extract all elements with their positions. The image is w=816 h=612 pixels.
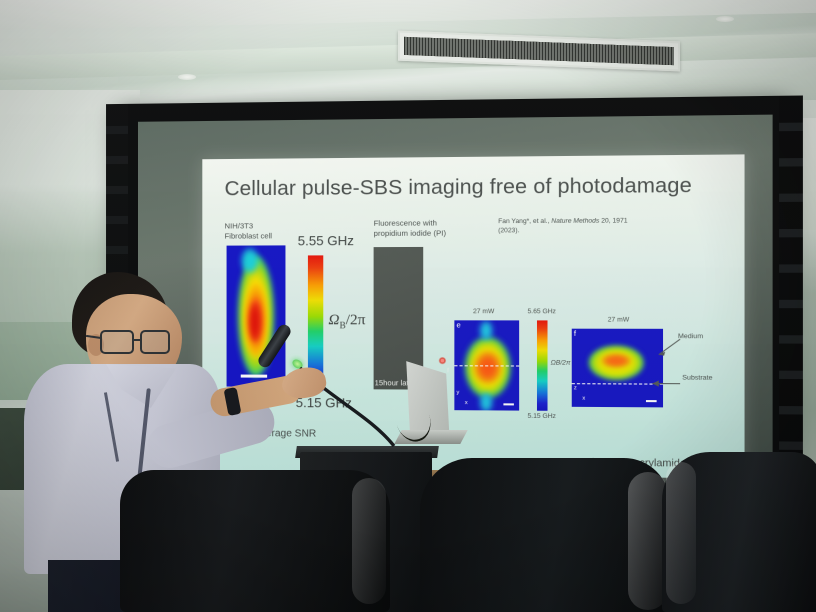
eyeglass-bridge [134, 339, 142, 341]
ceiling-light-icon [716, 16, 734, 22]
office-chair-right-1 [420, 458, 670, 612]
right-colorbar [537, 320, 548, 410]
chair-highlight [352, 478, 386, 604]
fluorescence-caption-line2: propidium iodide (PI) [374, 228, 447, 239]
office-chair-foreground [120, 470, 390, 612]
eyeglass-lens-left [100, 330, 134, 354]
panel-e-axis-x: x [465, 400, 468, 406]
panel-f-image: f z x [572, 329, 663, 408]
panel-f-power-label: 27 mW [608, 316, 629, 325]
left-panel-caption-line1: NIH/3T3 [225, 221, 254, 232]
scale-bar [241, 375, 267, 378]
panel-f-letter: f [574, 329, 576, 338]
annotation-medium: Medium [678, 333, 703, 340]
panel-e-dash-label: f [447, 367, 449, 376]
vent-louvers [404, 37, 674, 65]
ceiling-beam-upper [0, 0, 816, 30]
panel-e-image: e y x [454, 320, 519, 410]
citation-journal: Nature Methods [551, 217, 599, 224]
presentation-photo-scene: Cellular pulse-SBS imaging free of photo… [0, 0, 816, 612]
citation-line2: (2023). [498, 227, 519, 236]
laser-pointer-dot-icon [439, 357, 446, 364]
citation-prefix: Fan Yang*, et al., [498, 218, 551, 225]
panel-e-power-label: 27 mW [473, 308, 494, 317]
left-panel-caption-line2: Fibroblast cell [225, 231, 273, 242]
eyeglasses-icon [100, 330, 192, 356]
curtain-edge-right [779, 95, 803, 512]
annotation-substrate: Substrate [682, 374, 712, 381]
slide-title: Cellular pulse-SBS imaging free of photo… [225, 174, 692, 202]
right-colorbar-min-label: 5.15 GHz [528, 413, 556, 422]
substrate-arrow-icon [648, 378, 682, 389]
panel-f-scale-bar [646, 400, 657, 402]
panel-f-axis-z: z [574, 385, 577, 391]
citation-line1: Fan Yang*, et al., Nature Methods 20, 19… [498, 217, 627, 226]
office-chair-right-2 [662, 452, 816, 612]
ceiling-light-icon [178, 74, 196, 80]
left-colorbar-max-label: 5.55 GHz [298, 233, 354, 248]
right-colorbar-max-label: 5.65 GHz [528, 308, 556, 317]
panel-e-scale-bar [503, 403, 513, 405]
panel-e-axis-y: y [456, 390, 459, 396]
panel-f-axis-x: x [582, 396, 585, 402]
chair-highlight [666, 462, 696, 604]
citation-suffix: 20, 1971 [599, 217, 627, 224]
eyeglass-lens-right [140, 330, 170, 354]
right-colorbar-axis-label: ΩB/2π [551, 359, 571, 368]
